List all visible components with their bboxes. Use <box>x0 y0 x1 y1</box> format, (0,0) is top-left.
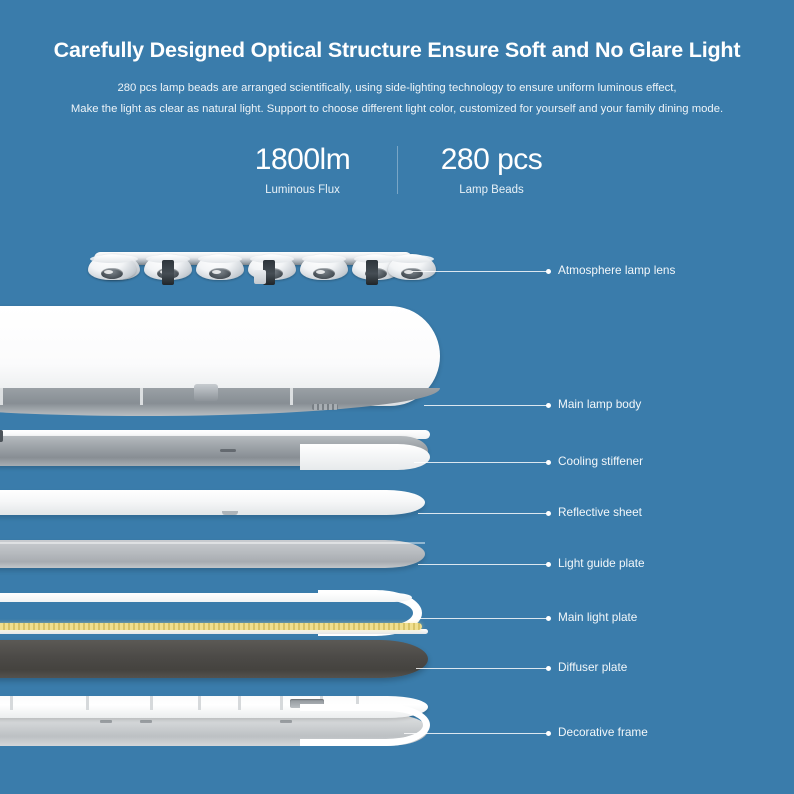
lens-clip <box>162 260 174 285</box>
leader-line-atmosphere-lamp-lens <box>412 271 548 272</box>
reflective-sheet-tab <box>222 511 238 515</box>
exploded-view-diagram: Atmosphere lamp lens Main lamp body Cool… <box>0 228 794 788</box>
stats-divider <box>397 146 398 194</box>
stat-label-lamp-beads: Lamp Beads <box>412 184 572 196</box>
callout-label-reflective-sheet: Reflective sheet <box>558 505 642 519</box>
subheadline-line-2: Make the light as clear as natural light… <box>0 100 794 119</box>
led-strip <box>0 623 422 630</box>
callout-label-atmosphere-lamp-lens: Atmosphere lamp lens <box>558 263 675 277</box>
lamp-lens <box>388 254 436 285</box>
leader-dot-light-guide-plate <box>546 562 551 567</box>
callout-label-light-guide-plate: Light guide plate <box>558 556 645 570</box>
layer-atmosphere-lamp-lens <box>88 246 418 292</box>
leader-dot-reflective-sheet <box>546 511 551 516</box>
leader-dot-diffuser-plate <box>546 666 551 671</box>
subheadline-line-1: 280 pcs lamp beads are arranged scientif… <box>0 79 794 98</box>
leader-line-light-guide-plate <box>418 564 548 565</box>
leader-dot-cooling-stiffener <box>546 460 551 465</box>
layer-light-guide-plate <box>0 540 425 568</box>
layer-reflective-sheet <box>0 490 425 515</box>
stat-luminous-flux: 1800lm Luminous Flux <box>223 142 383 196</box>
page-headline: Carefully Designed Optical Structure Ens… <box>0 38 794 63</box>
layer-decorative-frame-inner <box>300 704 430 746</box>
leader-line-diffuser-plate <box>416 668 548 669</box>
callout-label-main-light-plate: Main light plate <box>558 610 637 624</box>
stiffener-nub <box>0 430 3 442</box>
lens-clip <box>366 260 378 285</box>
lamp-lens <box>300 254 348 285</box>
leader-dot-atmosphere-lamp-lens <box>546 269 551 274</box>
layer-diffuser-plate <box>0 640 428 678</box>
leader-line-main-light-plate <box>414 618 548 619</box>
stat-lamp-beads: 280 pcs Lamp Beads <box>412 142 572 196</box>
leader-line-cooling-stiffener <box>414 462 548 463</box>
lamp-lens <box>196 254 244 285</box>
layer-main-lamp-body-underside <box>0 388 440 416</box>
leader-line-decorative-frame <box>404 733 548 734</box>
spec-stats: 1800lm Luminous Flux 280 pcs Lamp Beads <box>0 142 794 196</box>
lamp-body-plug <box>194 384 218 401</box>
stat-label-luminous-flux: Luminous Flux <box>223 184 383 196</box>
leader-dot-main-lamp-body <box>546 403 551 408</box>
lamp-lens <box>88 254 136 285</box>
stat-value-lamp-beads: 280 pcs <box>412 142 572 178</box>
leader-line-reflective-sheet <box>418 513 548 514</box>
layer-main-light-plate <box>0 593 412 602</box>
callout-label-main-lamp-body: Main lamp body <box>558 397 641 411</box>
leader-dot-main-light-plate <box>546 616 551 621</box>
layer-cooling-stiffener-edge <box>300 444 430 470</box>
callout-label-decorative-frame: Decorative frame <box>558 725 648 739</box>
callout-label-diffuser-plate: Diffuser plate <box>558 660 627 674</box>
leader-dot-decorative-frame <box>546 731 551 736</box>
leader-line-main-lamp-body <box>424 405 548 406</box>
lens-clip-light <box>254 270 266 284</box>
stat-value-luminous-flux: 1800lm <box>223 142 383 178</box>
callout-label-cooling-stiffener: Cooling stiffener <box>558 454 643 468</box>
